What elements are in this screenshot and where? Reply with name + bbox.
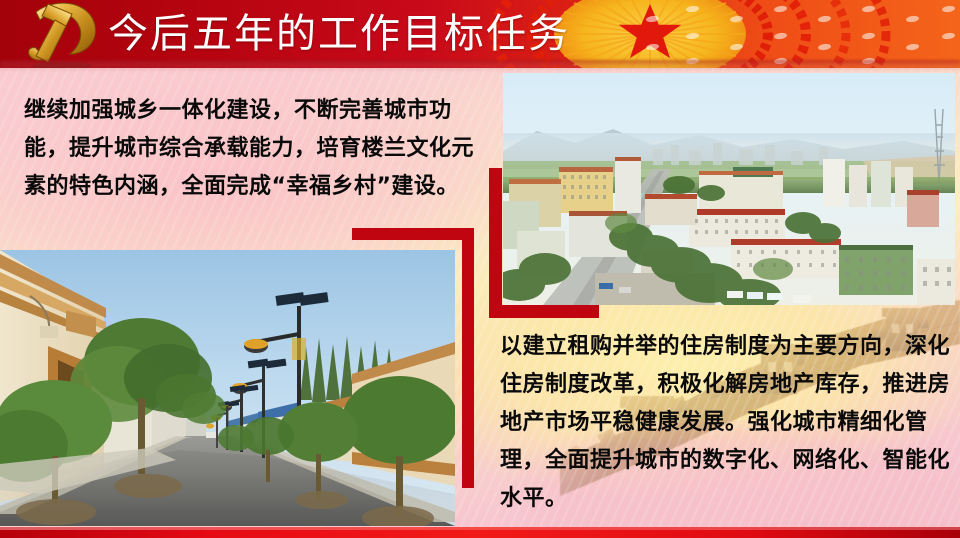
- city-photo-frame-vertical: [489, 168, 502, 318]
- header-reflection: [0, 60, 960, 72]
- hammer-and-sickle-icon: [14, 0, 110, 68]
- slide-header-banner: 今后五年的工作目标任务: [0, 0, 960, 68]
- paragraph-urban-rural-integration: 继续加强城乡一体化建设，不断完善城市功能，提升城市综合承载能力，培育楼兰文化元素…: [24, 92, 476, 206]
- paragraph-housing-policy: 以建立租购并举的住房制度为主要方向，深化住房制度改革，积极化解房地产库存，推进房…: [500, 328, 950, 518]
- city-aerial-photo: [503, 73, 955, 305]
- page-title: 今后五年的工作目标任务: [108, 9, 570, 59]
- slide-root: 今后五年的工作目标任务 继续加强城乡一体化建设，不断完善城市功能，提升城市综合承…: [0, 0, 960, 538]
- village-photo-frame-vertical: [462, 228, 474, 488]
- header-dot-pattern: [630, 0, 960, 68]
- village-photo-frame-horizontal: [352, 228, 474, 240]
- village-street-photo: [0, 250, 455, 526]
- city-photo-frame-horizontal: [489, 305, 599, 318]
- bottom-red-band-highlight: [0, 527, 960, 530]
